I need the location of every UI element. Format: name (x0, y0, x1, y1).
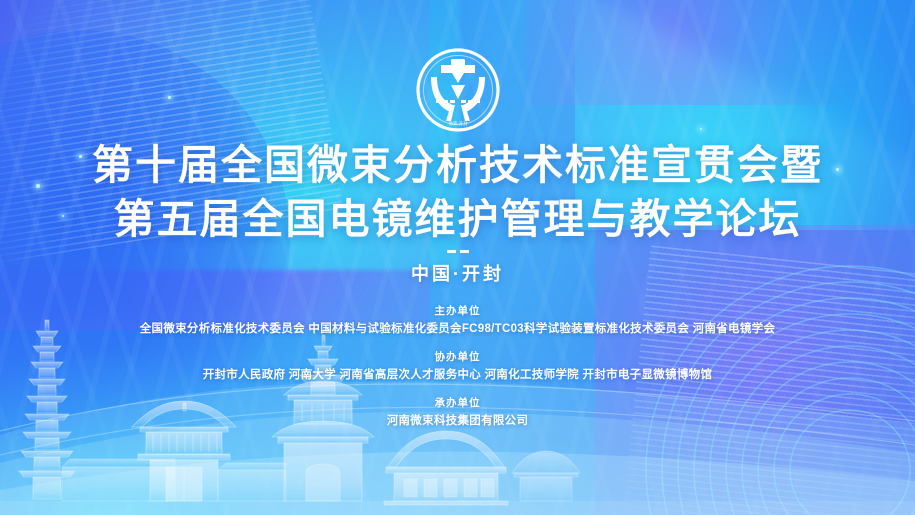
logo-caption: 微束·开封 (448, 120, 468, 127)
organizer-value: 全国微束分析标准化技术委员会 中国材料与试验标准化委员会FC98/TC03科学试… (0, 319, 915, 339)
page-title: 第十届全国微束分析技术标准宣贯会暨 第五届全国电镜维护管理与教学论坛 (0, 138, 915, 246)
location-text: 中国·开封 (0, 260, 915, 286)
title-line-1: 第十届全国微束分析技术标准宣贯会暨 (0, 138, 915, 192)
conference-banner: 微束·开封 第十届全国微束分析技术标准宣贯会暨 第五届全国电镜维护管理与教学论坛… (0, 0, 915, 515)
organizer-group: 协办单位 开封市人民政府 河南大学 河南省高层次人才服务中心 河南化工技师学院 … (0, 349, 915, 385)
divider-dash (460, 250, 469, 253)
organizer-label: 主办单位 (0, 303, 915, 319)
organizer-value: 河南微束科技集团有限公司 (0, 411, 915, 431)
divider-dash (447, 250, 456, 253)
divider (447, 250, 469, 253)
organizer-label: 承办单位 (0, 395, 915, 411)
organizer-label: 协办单位 (0, 349, 915, 365)
organizer-group: 主办单位 全国微束分析标准化技术委员会 中国材料与试验标准化委员会FC98/TC… (0, 303, 915, 339)
banner-content: 微束·开封 第十届全国微束分析技术标准宣贯会暨 第五届全国电镜维护管理与教学论坛… (0, 0, 915, 515)
organizer-value: 开封市人民政府 河南大学 河南省高层次人才服务中心 河南化工技师学院 开封市电子… (0, 365, 915, 385)
conference-logo: 微束·开封 (415, 47, 501, 133)
organizer-group: 承办单位 河南微束科技集团有限公司 (0, 395, 915, 431)
organizer-section: 主办单位 全国微束分析标准化技术委员会 中国材料与试验标准化委员会FC98/TC… (0, 303, 915, 441)
title-line-2: 第五届全国电镜维护管理与教学论坛 (0, 192, 915, 246)
